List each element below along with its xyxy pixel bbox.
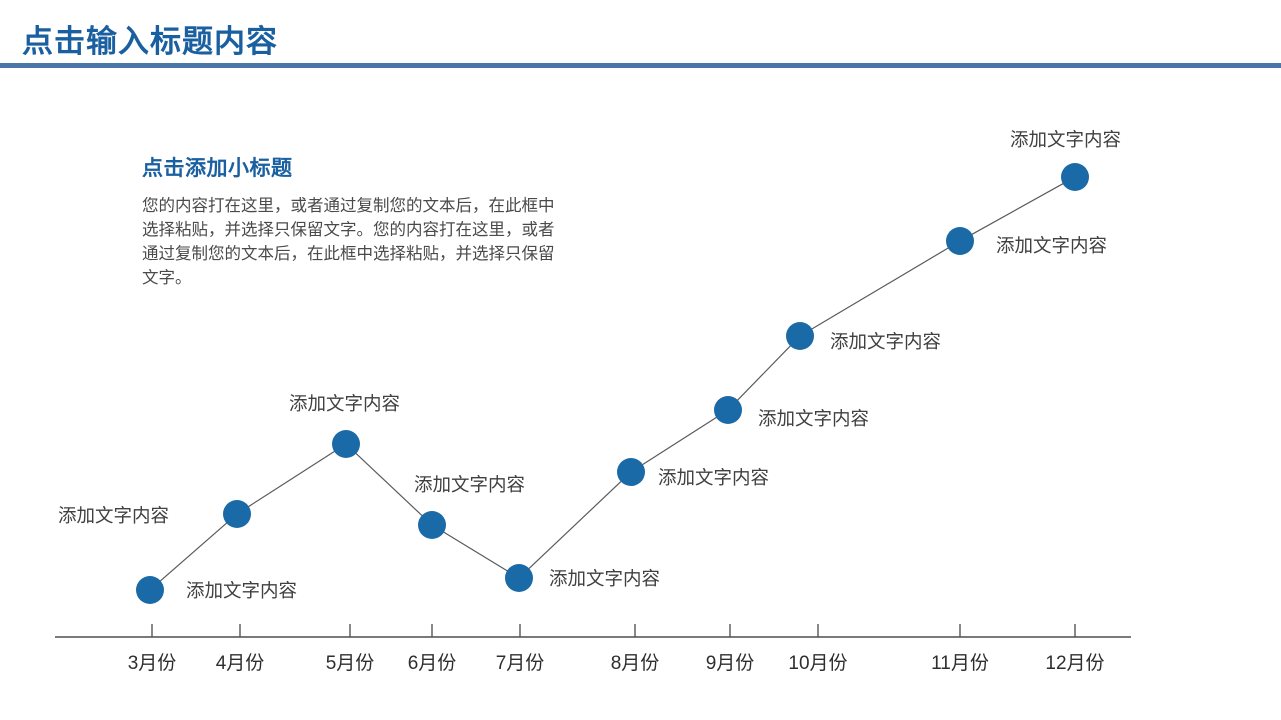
page-title: 点击输入标题内容 — [22, 16, 278, 61]
chart-line-segment — [443, 532, 508, 571]
chart-point-label[interactable]: 添加文字内容 — [996, 232, 1107, 258]
chart-data-point[interactable] — [418, 511, 446, 539]
chart-line-segment — [160, 523, 227, 582]
chart-data-point[interactable] — [505, 564, 533, 592]
chart-point-label[interactable]: 添加文字内容 — [186, 577, 297, 603]
chart-point-label[interactable]: 添加文字内容 — [289, 390, 400, 416]
line-chart — [0, 0, 1281, 720]
chart-line-segment — [811, 248, 949, 330]
chart-point-label[interactable]: 添加文字内容 — [1010, 126, 1121, 152]
chart-data-point[interactable] — [946, 227, 974, 255]
chart-data-point[interactable] — [1061, 163, 1089, 191]
chart-point-label[interactable]: 添加文字内容 — [658, 464, 769, 490]
x-axis-label: 12月份 — [1020, 648, 1130, 675]
chart-data-point[interactable] — [223, 500, 251, 528]
chart-data-point[interactable] — [136, 576, 164, 604]
section-subtitle: 点击添加小标题 — [142, 152, 562, 182]
chart-axis-group — [55, 624, 1131, 637]
chart-data-point[interactable] — [332, 430, 360, 458]
chart-point-label[interactable]: 添加文字内容 — [58, 502, 169, 528]
x-axis-label: 4月份 — [185, 648, 295, 675]
chart-point-label[interactable]: 添加文字内容 — [549, 565, 660, 591]
chart-line-segment — [355, 453, 422, 516]
x-axis-label: 7月份 — [465, 648, 575, 675]
chart-data-point[interactable] — [617, 458, 645, 486]
chart-line-segment — [971, 183, 1063, 234]
chart-point-label[interactable]: 添加文字内容 — [758, 405, 869, 431]
chart-data-point[interactable] — [786, 322, 814, 350]
chart-point-label[interactable]: 添加文字内容 — [414, 471, 525, 497]
chart-line-segment — [642, 417, 717, 465]
text-content-block: 点击添加小标题 您的内容打在这里，或者通过复制您的文本后，在此框中选择粘贴，并选… — [142, 152, 562, 290]
chart-line-segment — [737, 345, 791, 400]
chart-line-segment — [528, 481, 621, 569]
x-axis-label: 11月份 — [905, 648, 1015, 675]
body-paragraph: 您的内容打在这里，或者通过复制您的文本后，在此框中选择粘贴，并选择只保留文字。您… — [142, 194, 562, 290]
chart-data-point[interactable] — [714, 396, 742, 424]
chart-point-label[interactable]: 添加文字内容 — [830, 328, 941, 354]
chart-line-segment — [248, 451, 335, 507]
title-divider — [0, 63, 1281, 68]
x-axis-label: 10月份 — [763, 648, 873, 675]
x-axis-label: 8月份 — [580, 648, 690, 675]
